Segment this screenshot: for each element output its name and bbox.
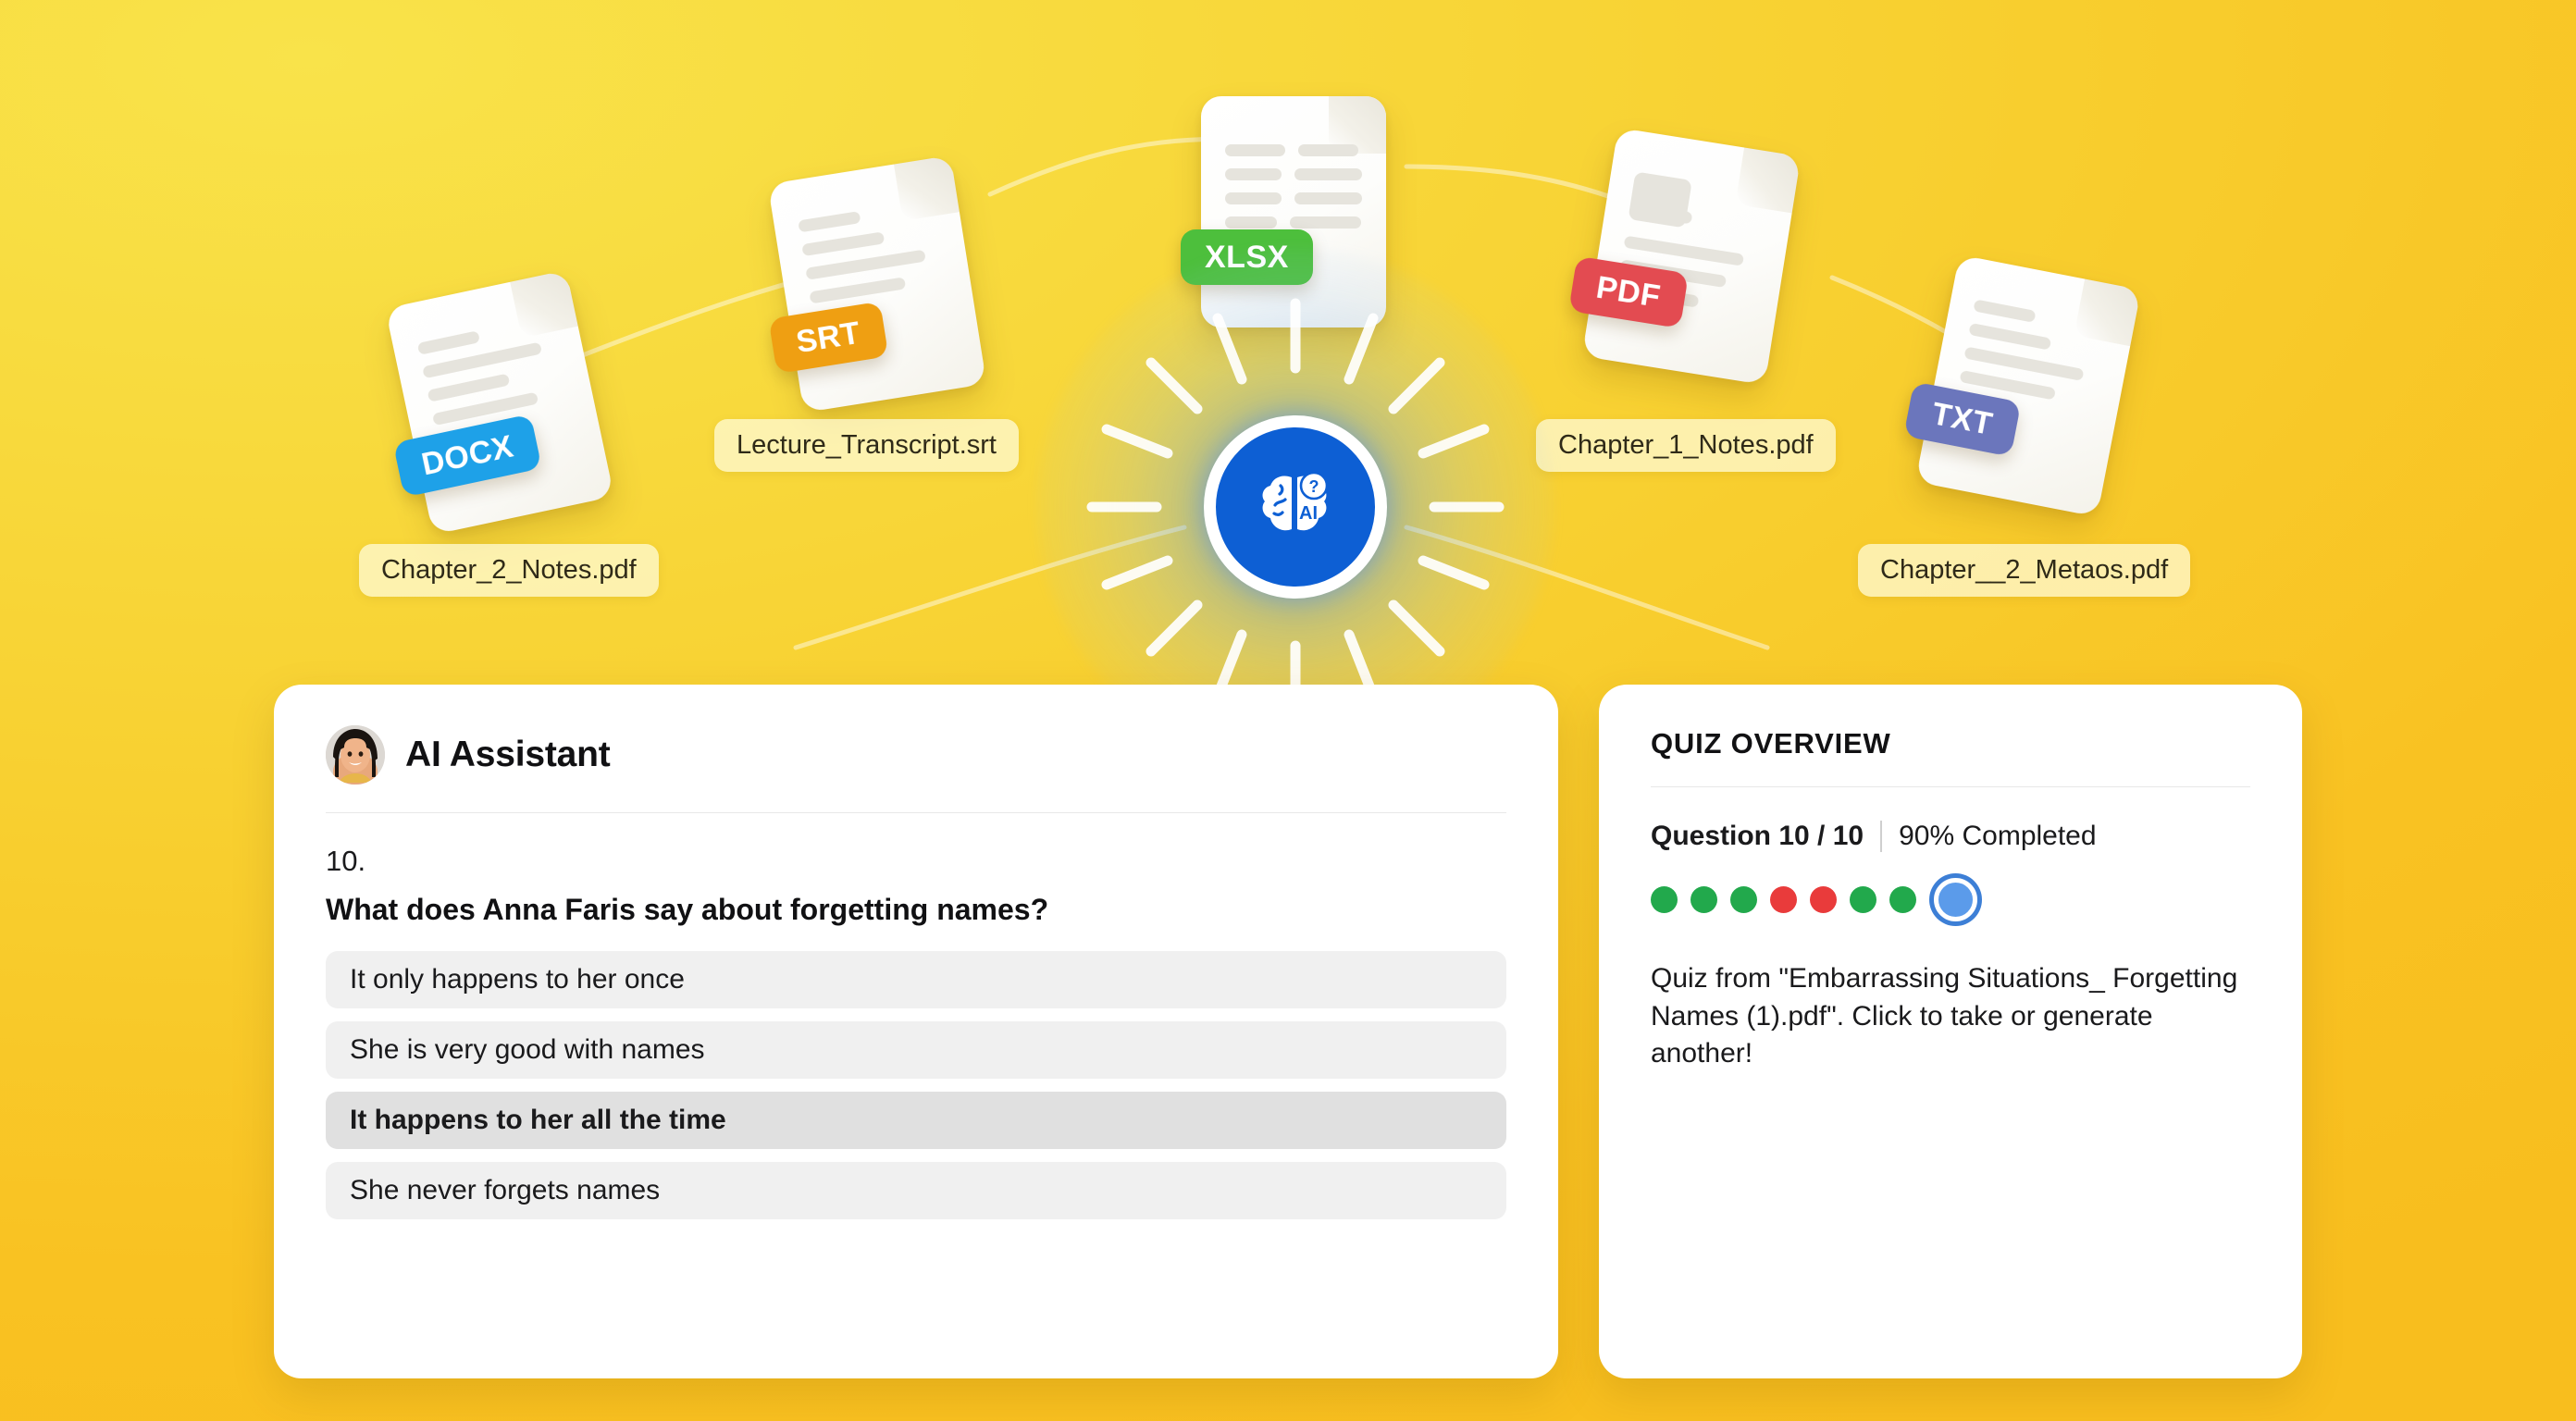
svg-text:?: ? <box>1309 477 1319 496</box>
question-counter: Question 10 / 10 <box>1651 821 1864 852</box>
progress-dot-incorrect[interactable] <box>1810 886 1837 913</box>
answer-option[interactable]: She never forgets names <box>326 1162 1506 1219</box>
assistant-header: AI Assistant <box>274 685 1558 785</box>
progress-dot-current[interactable] <box>1934 878 1977 921</box>
file-name-pill-lecture-transcript[interactable]: Lecture_Transcript.srt <box>714 419 1019 472</box>
file-type-badge-docx: DOCX <box>393 414 542 497</box>
app-background: DOCX Chapter_2_Notes.pdf SRT Lecture_Tra… <box>0 0 2576 1421</box>
progress-dot-incorrect[interactable] <box>1770 886 1797 913</box>
answer-option-selected[interactable]: It happens to her all the time <box>326 1092 1506 1149</box>
progress-dot-correct[interactable] <box>1850 886 1876 913</box>
file-name-pill-chapter1notes[interactable]: Chapter_1_Notes.pdf <box>1536 419 1836 472</box>
progress-dot-correct[interactable] <box>1651 886 1678 913</box>
quiz-overview-title: QUIZ OVERVIEW <box>1599 685 2302 760</box>
quiz-progress-summary: Question 10 / 10 90% Completed <box>1599 787 2302 852</box>
file-card-docx[interactable]: DOCX <box>385 270 614 535</box>
file-card-srt[interactable]: SRT <box>768 155 987 413</box>
svg-text:AI: AI <box>1299 503 1318 524</box>
file-name-pill-chapter2notes[interactable]: Chapter_2_Notes.pdf <box>359 544 659 597</box>
document-lines <box>417 315 571 437</box>
completion-percent: 90% Completed <box>1899 821 2096 852</box>
ai-assistant-panel: AI Assistant 10. What does Anna Faris sa… <box>274 685 1558 1378</box>
file-card-pdf[interactable]: PDF <box>1582 128 1802 385</box>
spreadsheet-grid <box>1225 144 1362 241</box>
progress-dot-correct[interactable] <box>1889 886 1916 913</box>
question-number: 10. <box>274 813 1558 878</box>
file-card-txt[interactable]: TXT <box>1915 254 2141 517</box>
question-text: What does Anna Faris say about forgettin… <box>274 878 1558 927</box>
file-type-badge-srt: SRT <box>768 302 887 374</box>
quiz-overview-panel: QUIZ OVERVIEW Question 10 / 10 90% Compl… <box>1599 685 2302 1378</box>
progress-dot-correct[interactable] <box>1730 886 1757 913</box>
answer-options-list: It only happens to her once She is very … <box>274 927 1558 1219</box>
progress-dot-correct[interactable] <box>1690 886 1717 913</box>
meta-separator <box>1880 821 1882 852</box>
answer-option[interactable]: She is very good with names <box>326 1021 1506 1079</box>
progress-dots <box>1599 852 2302 921</box>
document-lines <box>798 199 947 315</box>
quiz-description: Quiz from "Embarrassing Situations_ Forg… <box>1599 921 2302 1073</box>
file-name-pill-chapter2metaos[interactable]: Chapter__2_Metaos.pdf <box>1858 544 2190 597</box>
ai-brain-icon[interactable]: ? AI <box>1204 415 1387 599</box>
avatar <box>326 725 385 785</box>
assistant-title: AI Assistant <box>405 735 611 775</box>
answer-option[interactable]: It only happens to her once <box>326 951 1506 1008</box>
